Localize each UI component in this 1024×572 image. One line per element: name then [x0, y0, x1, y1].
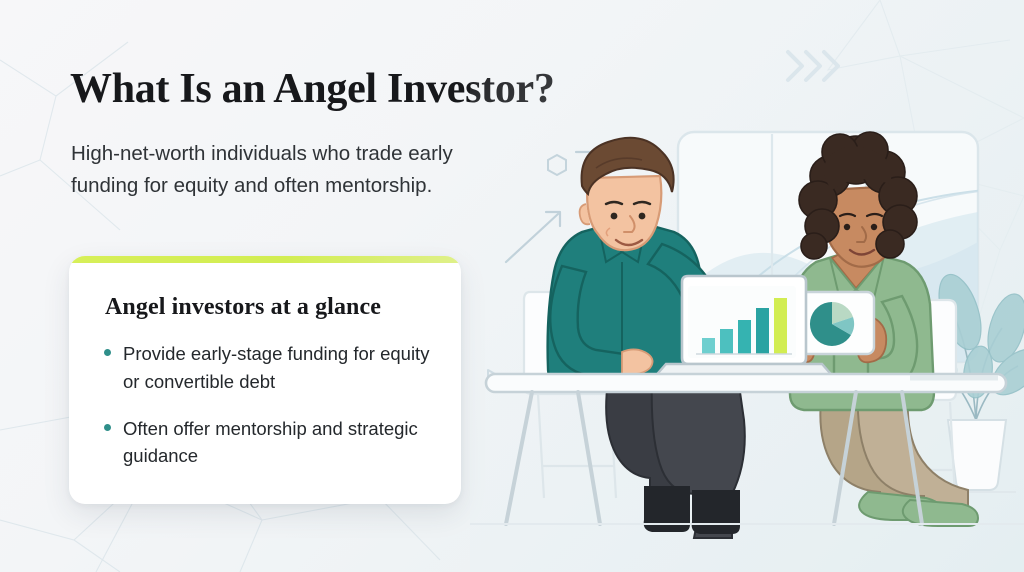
list-item: Provide early-stage funding for equity o…	[101, 340, 431, 396]
bullet-dot-icon	[104, 424, 111, 431]
card-title: Angel investors at a glance	[105, 294, 381, 321]
bullet-dot-icon	[104, 349, 111, 356]
slide-canvas: What Is an Angel Investor? High-net-wort…	[0, 0, 1024, 572]
illustration	[470, 0, 1024, 572]
list-item-label: Provide early-stage funding for equity o…	[123, 343, 429, 392]
card-accent-bar	[69, 256, 461, 263]
list-item: Often offer mentorship and strategic gui…	[101, 415, 431, 471]
tablet-pie-chart	[810, 302, 854, 346]
card-bullet-list: Provide early-stage funding for equity o…	[101, 340, 431, 489]
glance-card: Angel investors at a glance Provide earl…	[69, 256, 461, 504]
page-subtitle: High-net-worth individuals who trade ear…	[71, 138, 521, 202]
list-item-label: Often offer mentorship and strategic gui…	[123, 418, 418, 467]
